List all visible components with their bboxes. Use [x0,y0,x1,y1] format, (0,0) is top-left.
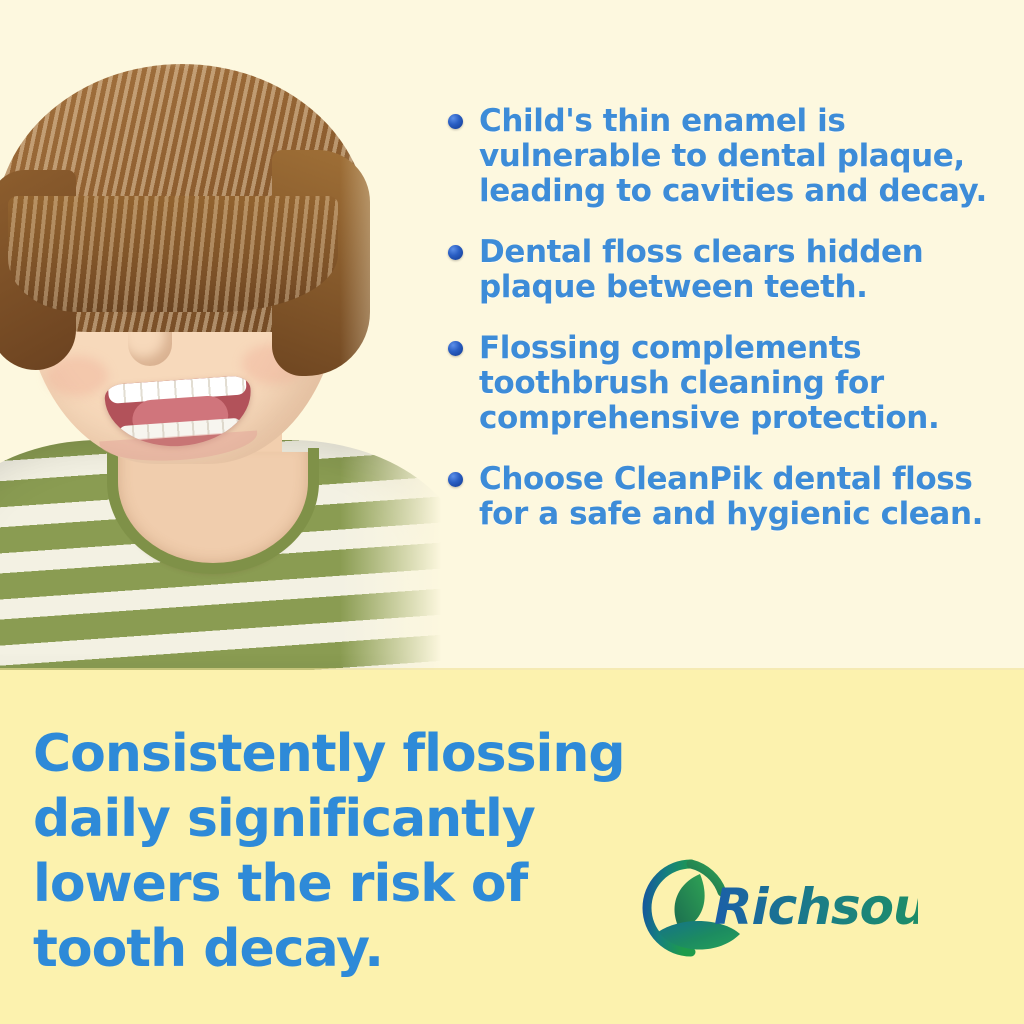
list-item-text: Choose CleanPik dental floss for a safe … [479,462,1008,532]
upper-panel: Child's thin enamel is vulnerable to den… [0,0,1024,670]
list-item-text: Child's thin enamel is vulnerable to den… [479,104,1008,209]
list-item-text: Dental floss clears hidden plaque betwee… [479,235,1008,305]
bullet-dot-icon [448,472,463,487]
bullet-dot-icon [448,114,463,129]
list-item-text: Flossing complements toothbrush cleaning… [479,331,1008,436]
child-photo [0,0,470,670]
photo-stage [0,0,470,670]
photo-top-fade [0,0,470,70]
list-item: Choose CleanPik dental floss for a safe … [448,462,1008,532]
bullet-dot-icon [448,245,463,260]
list-item: Dental floss clears hidden plaque betwee… [448,235,1008,305]
logo-graphic: Richsource [618,852,918,964]
lower-band: Consistently flossing daily significantl… [0,670,1024,1024]
list-item: Flossing complements toothbrush cleaning… [448,331,1008,436]
benefits-list: Child's thin enamel is vulnerable to den… [448,104,1008,532]
hair-bangs [8,196,338,312]
list-item: Child's thin enamel is vulnerable to den… [448,104,1008,209]
richsource-logo[interactable]: Richsource [618,852,918,964]
bullet-dot-icon [448,341,463,356]
logo-wordmark: Richsource [714,878,918,936]
headline-text: Consistently flossing daily significantl… [33,722,633,982]
poster-canvas: Child's thin enamel is vulnerable to den… [0,0,1024,1024]
